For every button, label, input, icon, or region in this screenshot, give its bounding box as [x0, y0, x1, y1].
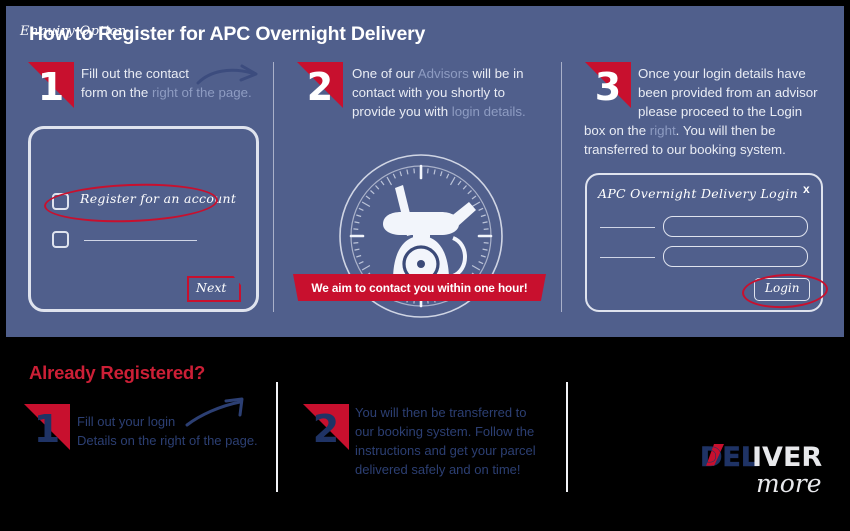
top-panel: How to Register for APC Overnight Delive… [0, 0, 850, 337]
step-description-2: One of our Advisors will be in contact w… [352, 64, 552, 121]
bottom-step1-line2: Details on the right of the page. [77, 431, 287, 450]
step3-line1: Once your login details have [638, 64, 828, 83]
enquiry-option-2-placeholder-line [84, 240, 197, 241]
step-badge-3: 3 [585, 62, 631, 108]
next-button-label: Next [196, 280, 226, 295]
step2-line2: contact with you shortly to [352, 83, 552, 102]
enquiry-checkbox-2[interactable] [52, 231, 69, 248]
bottom-step-number-2: 2 [303, 404, 349, 450]
bottom-step-badge-2: 2 [303, 404, 349, 450]
contact-promise-banner: We aim to contact you within one hour! [293, 274, 546, 301]
infographic-page: How to Register for APC Overnight Delive… [0, 0, 850, 531]
step-number-2: 2 [297, 62, 343, 108]
step1-line2-pre: form on the [81, 85, 152, 100]
step-description-3-bottom: box on the right. You will then be trans… [584, 121, 829, 159]
bottom-step2-line2: our booking system. Follow the [355, 422, 560, 441]
swoosh-arrow-icon [184, 396, 256, 432]
step2-line1-post: will be in [469, 66, 524, 81]
login-card-title: APC Overnight Delivery Login [598, 186, 798, 201]
logo-script: more! [756, 469, 822, 498]
bottom-step2-line4: delivered safely and on time! [355, 460, 560, 479]
deliver-more-logo: DEL DEL IVER more! [700, 440, 822, 502]
bottom-step-badge-1: 1 [24, 404, 70, 450]
svg-text:DEL: DEL [700, 442, 758, 473]
bottom-step-number-1: 1 [24, 404, 70, 450]
enquiry-card-title: Enquiry Option [20, 24, 127, 39]
swoosh-arrow-icon [196, 62, 268, 94]
step2-line3-highlight: login details. [452, 104, 526, 119]
banner-text: We aim to contact you within one hour! [311, 281, 527, 295]
step-badge-2: 2 [297, 62, 343, 108]
username-input[interactable] [663, 216, 808, 237]
step2-line1-highlight: Advisors [418, 66, 469, 81]
step-badge-1: 1 [28, 62, 74, 108]
close-icon[interactable]: x [803, 182, 810, 196]
step-number-1: 1 [28, 62, 74, 108]
step3-line4-pre: box on the [584, 123, 650, 138]
step2-line1-pre: One of our [352, 66, 418, 81]
username-label-line [600, 227, 655, 228]
step3-line4-post: . You will then be [676, 123, 776, 138]
step-description-3-top: Once your login details have been provid… [638, 64, 828, 121]
bottom-column-divider-2 [566, 382, 568, 492]
step3-line5: transferred to our booking system. [584, 140, 829, 159]
bottom-step2-line1: You will then be transferred to [355, 403, 560, 422]
already-registered-heading: Already Registered? [29, 362, 205, 384]
password-label-line [600, 257, 655, 258]
step2-line3-pre: provide you with [352, 104, 452, 119]
step3-line3: please proceed to the Login [638, 102, 828, 121]
column-divider-1 [273, 62, 274, 312]
bottom-step-description-2: You will then be transferred to our book… [355, 403, 560, 479]
bottom-step2-line3: instructions and get your parcel [355, 441, 560, 460]
password-input[interactable] [663, 246, 808, 267]
step3-line2: been provided from an advisor [638, 83, 828, 102]
column-divider-2 [561, 62, 562, 312]
step-number-3: 3 [585, 62, 631, 108]
step3-line4-highlight: right [650, 123, 676, 138]
